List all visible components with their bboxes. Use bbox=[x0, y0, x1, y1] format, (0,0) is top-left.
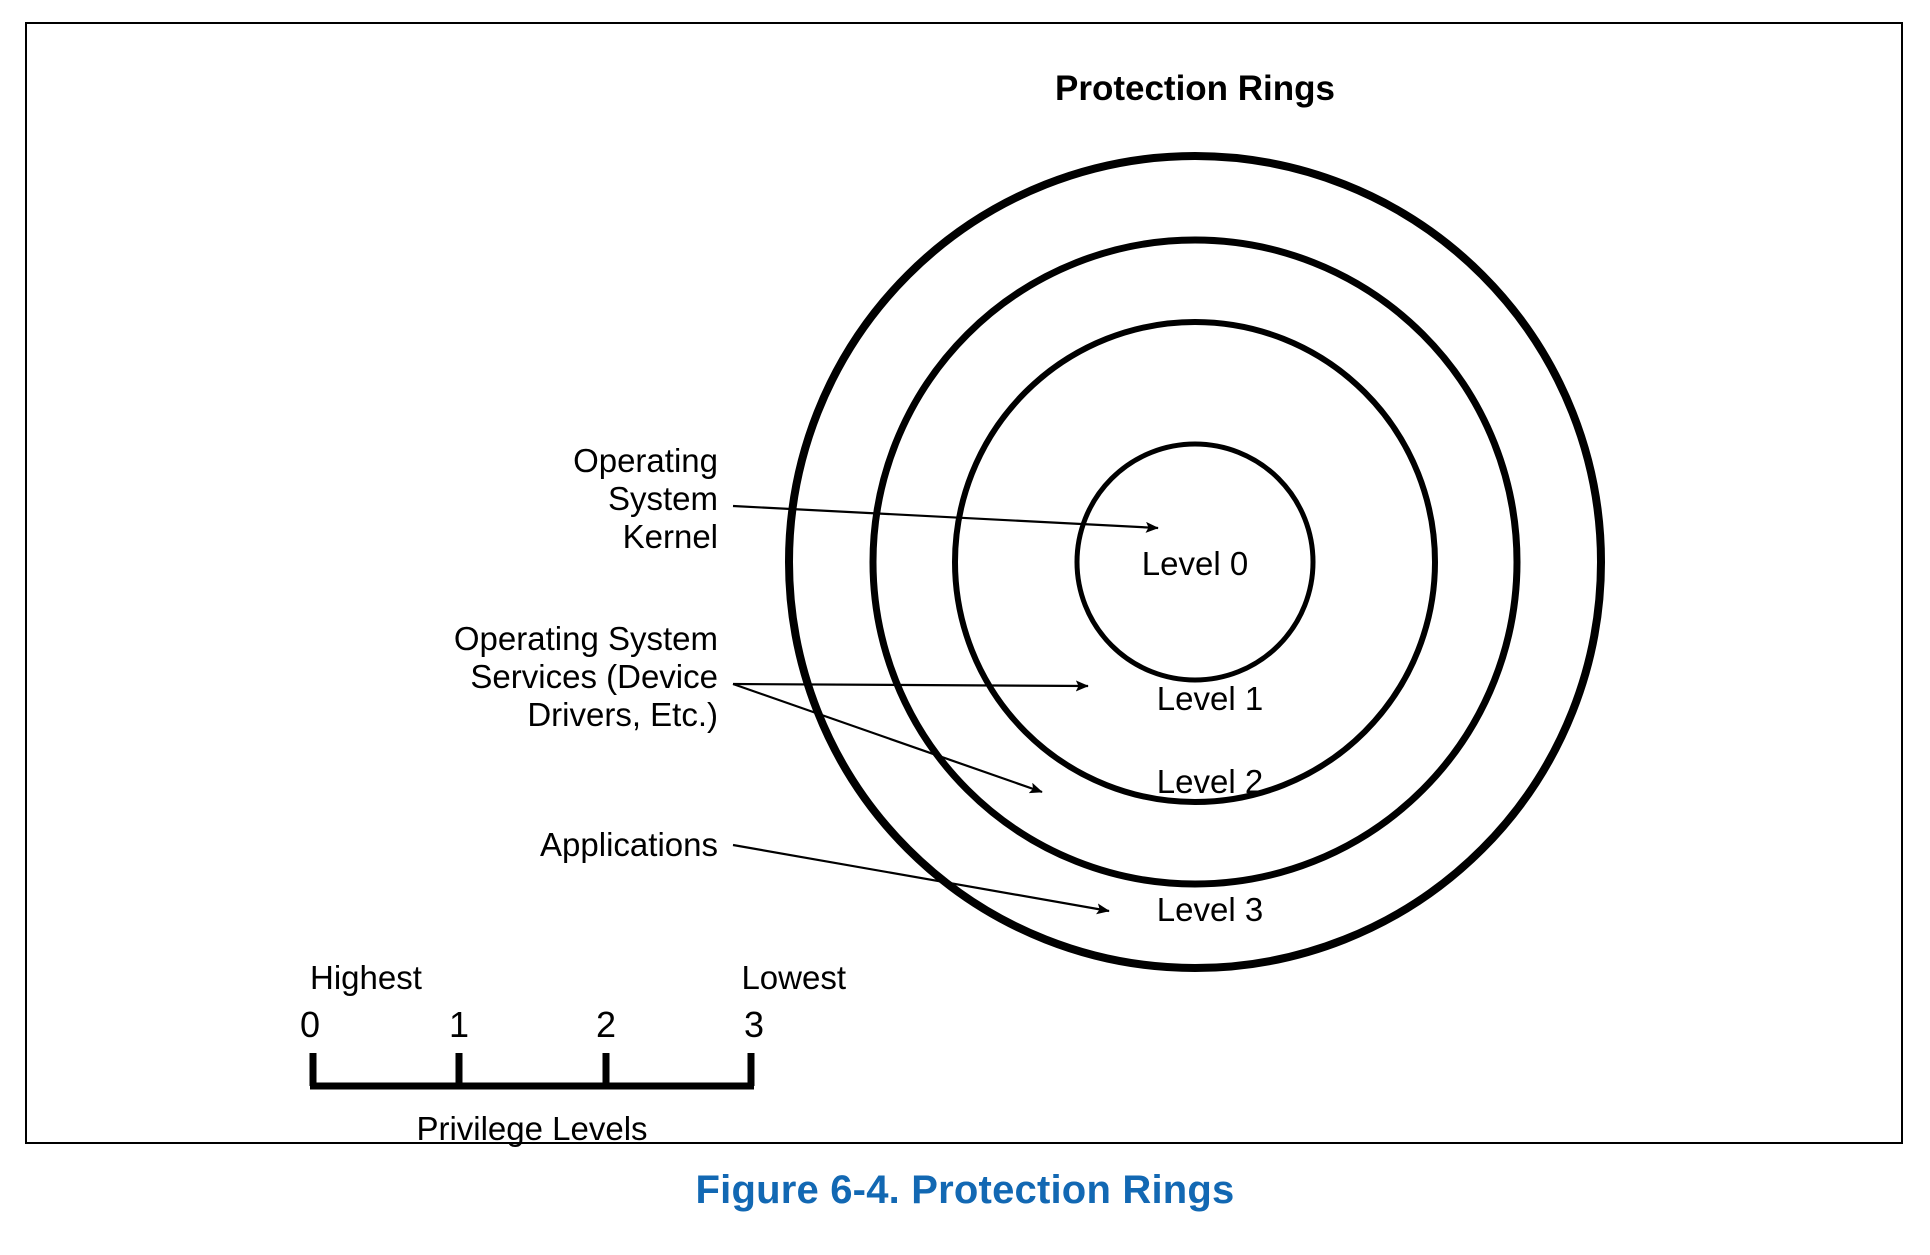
leader-arrow-to-level-0 bbox=[733, 506, 1158, 528]
scale-tick-value-0: 0 bbox=[300, 1004, 320, 1045]
scale-tick-value-2: 2 bbox=[596, 1004, 616, 1045]
callout-os-kernel: Operating System Kernel bbox=[573, 442, 1158, 555]
leader-arrow-to-level-3 bbox=[733, 845, 1109, 911]
leader-arrow-to-level-1 bbox=[733, 684, 1088, 686]
privilege-level-scale: Highest Lowest 0 1 2 3 Privilege Levels bbox=[300, 959, 846, 1147]
scale-tick-value-1: 1 bbox=[449, 1004, 469, 1045]
callout-os-kernel-line-1: Operating bbox=[573, 442, 718, 479]
callout-os-services-line-1: Operating System bbox=[454, 620, 718, 657]
callout-os-services-line-2: Services (Device bbox=[470, 658, 718, 695]
ring-label-level-3: Level 3 bbox=[1157, 891, 1263, 928]
callout-os-services-line-3: Drivers, Etc.) bbox=[527, 696, 718, 733]
scale-label-lowest: Lowest bbox=[741, 959, 846, 996]
protection-rings-diagram: Protection Rings Level 0 Level 1 Level 2… bbox=[0, 0, 1930, 1160]
diagram-title: Protection Rings bbox=[1055, 69, 1335, 108]
scale-label-highest: Highest bbox=[310, 959, 422, 996]
ring-label-level-2: Level 2 bbox=[1157, 763, 1263, 800]
ring-labels: Level 0 Level 1 Level 2 Level 3 bbox=[1142, 545, 1263, 928]
ring-label-level-0: Level 0 bbox=[1142, 545, 1248, 582]
scale-tick-value-3: 3 bbox=[744, 1004, 764, 1045]
callout-os-kernel-line-3: Kernel bbox=[623, 518, 718, 555]
callout-os-services: Operating System Services (Device Driver… bbox=[454, 620, 1088, 792]
figure-caption: Figure 6-4. Protection Rings bbox=[0, 1168, 1930, 1213]
ring-label-level-1: Level 1 bbox=[1157, 680, 1263, 717]
callout-applications-line-1: Applications bbox=[540, 826, 718, 863]
scale-caption: Privilege Levels bbox=[416, 1110, 647, 1147]
figure-root: Protection Rings Level 0 Level 1 Level 2… bbox=[0, 0, 1930, 1255]
callout-os-kernel-line-2: System bbox=[608, 480, 718, 517]
